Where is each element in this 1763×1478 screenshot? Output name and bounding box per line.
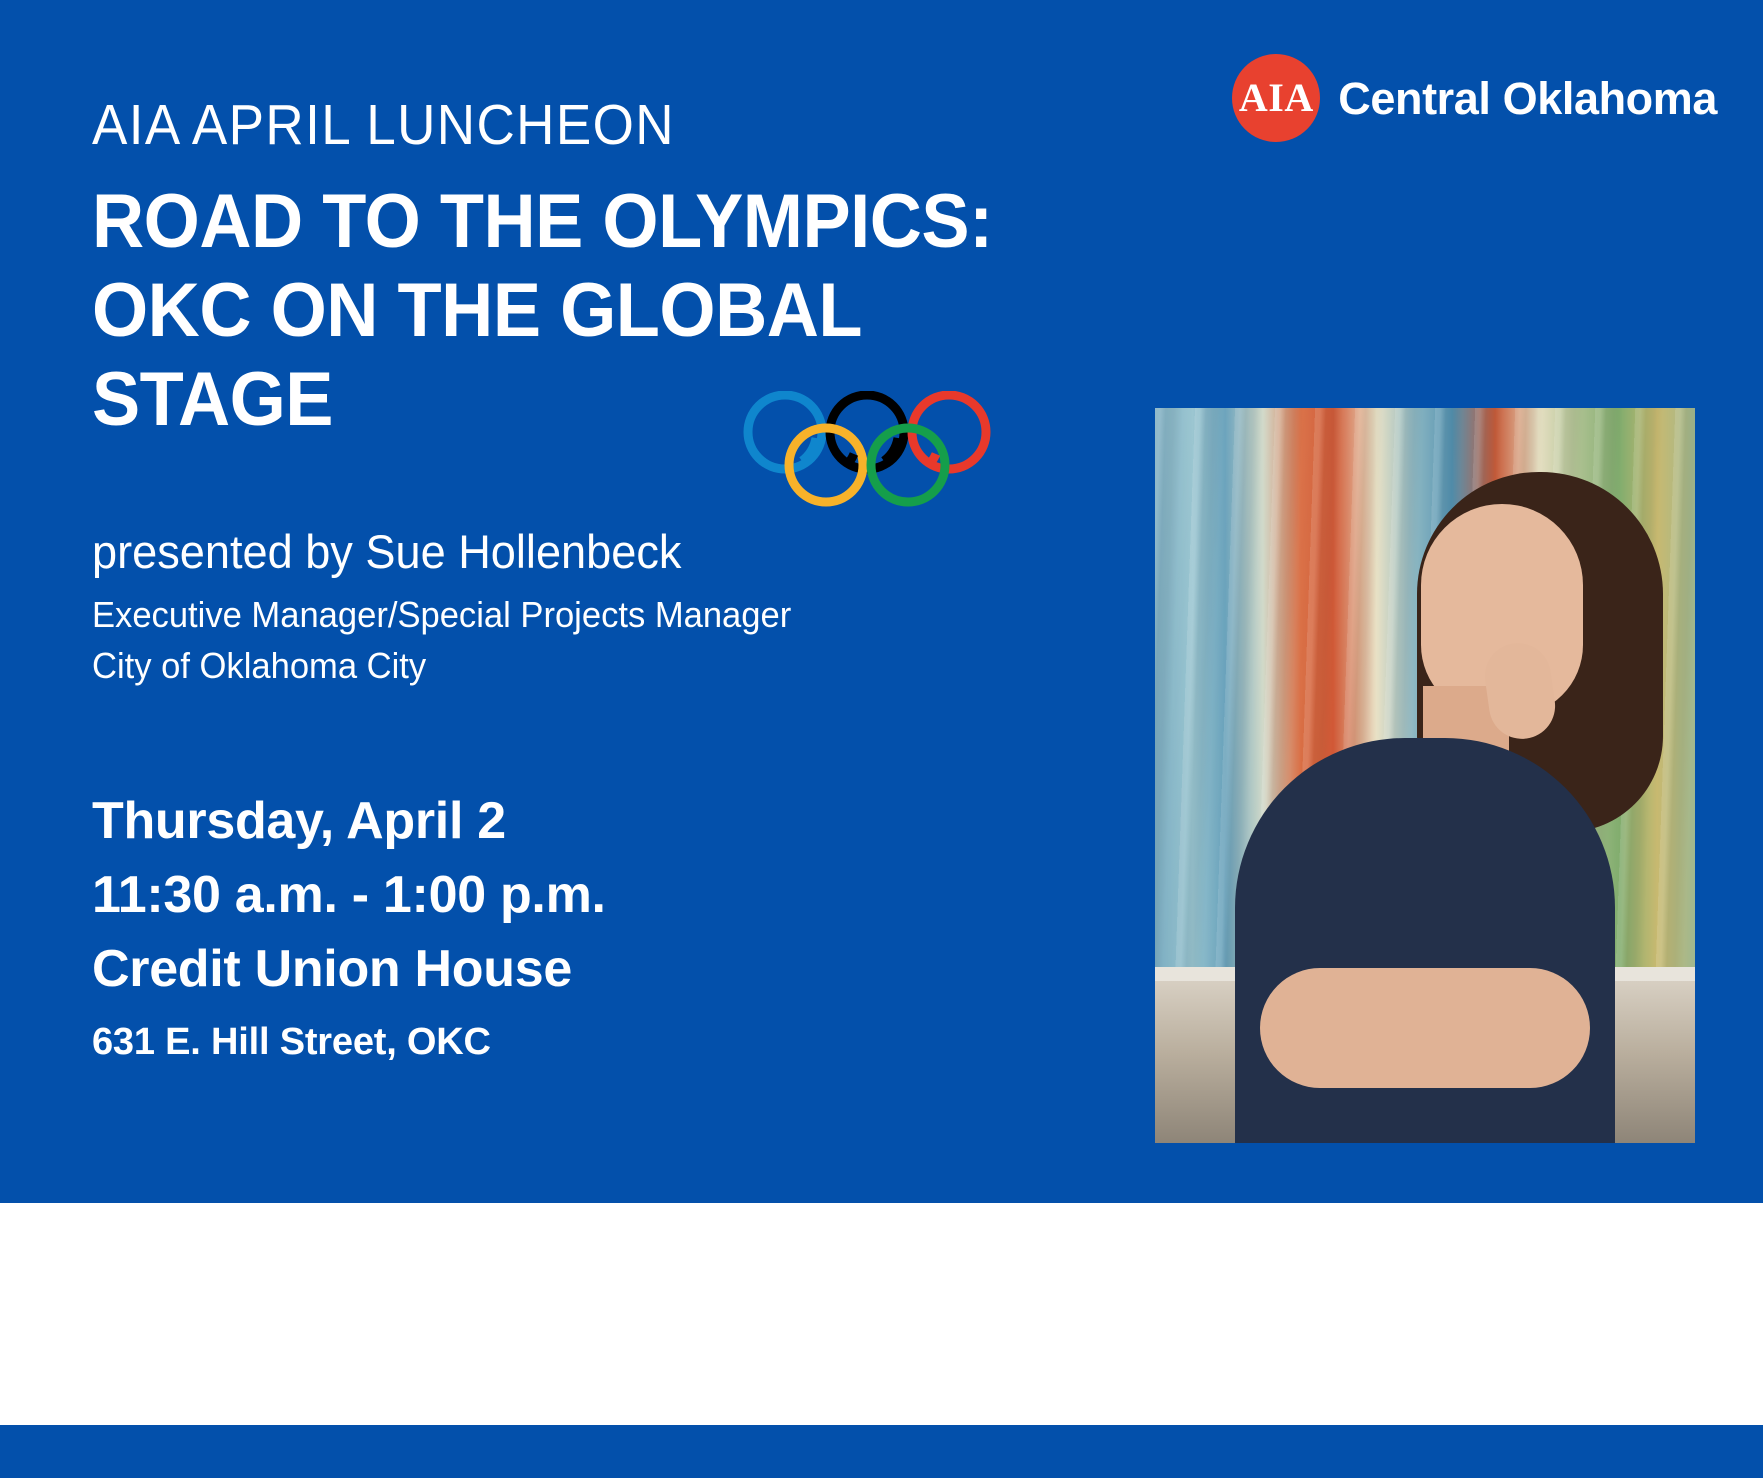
event-time: 11:30 a.m. - 1:00 p.m.	[92, 859, 852, 933]
event-venue: Credit Union House	[92, 933, 852, 1007]
speaker-photo	[1155, 408, 1695, 1143]
title-line-2: OKC ON THE GLOBAL	[92, 267, 1052, 356]
bottom-strip	[0, 1425, 1763, 1478]
presenter-role: Executive Manager/Special Projects Manag…	[92, 589, 918, 691]
presenter-role-line-2: City of Oklahoma City	[92, 640, 918, 691]
event-date: Thursday, April 2	[92, 785, 852, 859]
hero-panel: AIA Central Oklahoma AIA APRIL LUNCHEON …	[0, 0, 1763, 1203]
eyebrow-label: AIA APRIL LUNCHEON	[92, 96, 1031, 156]
title-line-1: ROAD TO THE OLYMPICS:	[92, 178, 1052, 267]
aia-logo-text: AIA	[1239, 78, 1314, 118]
portrait-arm	[1260, 968, 1590, 1088]
aia-logo-icon: AIA	[1232, 54, 1320, 142]
event-flyer: AIA Central Oklahoma AIA APRIL LUNCHEON …	[0, 0, 1763, 1478]
event-details: Thursday, April 2 11:30 a.m. - 1:00 p.m.…	[92, 785, 852, 1071]
presenter-block: presented by Sue Hollenbeck Executive Ma…	[92, 525, 952, 691]
presenter-role-line-1: Executive Manager/Special Projects Manag…	[92, 589, 918, 640]
presenter-name: presented by Sue Hollenbeck	[92, 525, 918, 579]
chapter-name: Central Oklahoma	[1338, 76, 1717, 121]
olympic-rings-icon	[742, 391, 992, 507]
event-address: 631 E. Hill Street, OKC	[92, 1014, 852, 1071]
aia-chapter-logo: AIA Central Oklahoma	[1232, 54, 1717, 142]
footer-bar: aiacoc.org KFC engineering Est 1973 SESC…	[0, 1203, 1763, 1425]
